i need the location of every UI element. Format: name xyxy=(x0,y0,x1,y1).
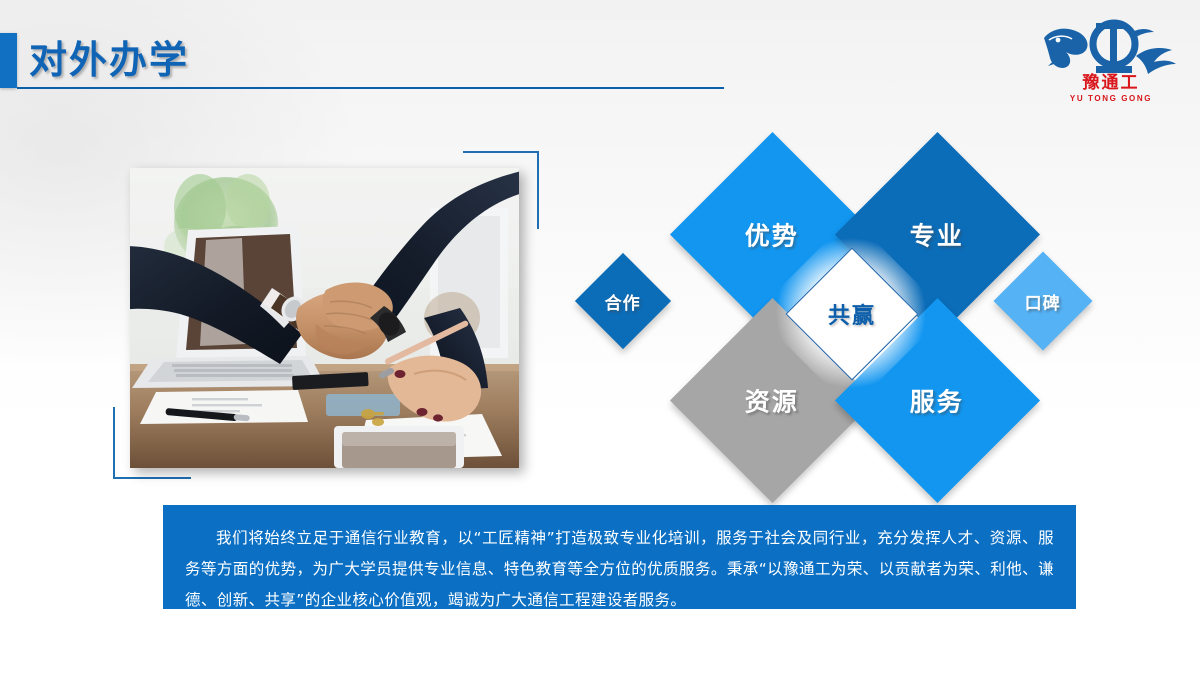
diamond-node-koubei[interactable]: 口碑 xyxy=(994,252,1093,351)
corner-bracket-top-right-vertical xyxy=(537,151,539,229)
slide-canvas: 对外办学 豫通工 YU TONG GONG xyxy=(0,0,1200,675)
description-paragraph: 我们将始终立足于通信行业教育，以“工匠精神”打造极致专业化培训，服务于社会及同行… xyxy=(185,523,1054,616)
page-title: 对外办学 xyxy=(29,33,189,88)
diamond-label-youshi: 优势 xyxy=(745,216,799,252)
description-panel: 我们将始终立足于通信行业教育，以“工匠精神”打造极致专业化培训，服务于社会及同行… xyxy=(163,505,1076,609)
logo-english-name: YU TONG GONG xyxy=(1036,94,1186,103)
corner-bracket-top-right xyxy=(463,151,539,153)
handshake-photo xyxy=(130,168,519,468)
logo-chinese-name: 豫通工 xyxy=(1036,74,1186,92)
corner-bracket-bottom-left xyxy=(113,477,191,479)
value-diamond-diagram: 合作 优势 专业 资源 服务 口碑 共赢 xyxy=(580,140,1100,480)
diamond-label-zhuanye: 专业 xyxy=(910,216,964,252)
diamond-label-gongying: 共赢 xyxy=(828,298,876,330)
corner-bracket-bottom-left-vertical xyxy=(113,407,115,479)
diamond-label-hezuo: 合作 xyxy=(605,289,641,314)
diamond-label-ziyuan: 资源 xyxy=(745,382,799,418)
title-accent-bar xyxy=(0,33,17,88)
title-underline xyxy=(17,87,724,89)
diamond-label-koubei: 口碑 xyxy=(1025,289,1061,314)
diamond-node-hezuo[interactable]: 合作 xyxy=(575,253,671,349)
handshake-photo-image xyxy=(130,168,519,468)
diamond-label-fuwu: 服务 xyxy=(910,382,964,418)
company-logo: 豫通工 YU TONG GONG xyxy=(1036,16,1186,106)
dragon-logo-icon xyxy=(1036,16,1186,78)
